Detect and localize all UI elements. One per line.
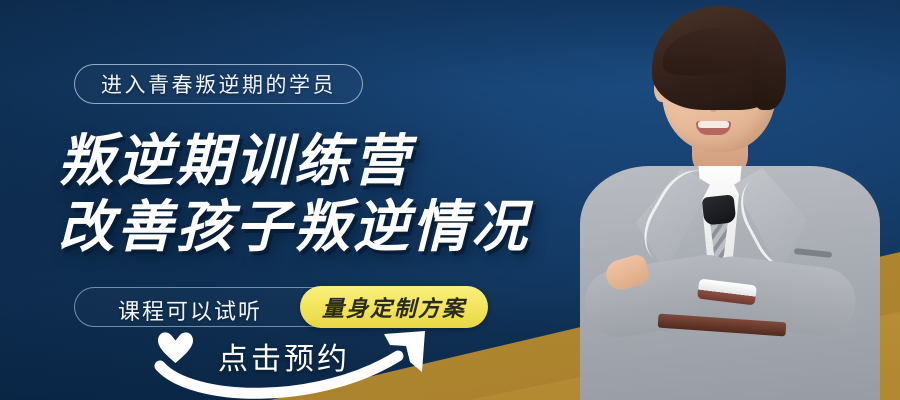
- banner-content: 进入青春叛逆期的学员 叛逆期训练营 改善孩子叛逆情况 课程可以试听 量身定制方案…: [0, 0, 600, 400]
- feature-highlight-pill[interactable]: 量身定制方案: [300, 286, 488, 328]
- subject-teeth: [698, 121, 729, 128]
- headline-line-2: 改善孩子叛逆情况: [58, 194, 530, 260]
- top-badge: 进入青春叛逆期的学员: [74, 64, 363, 104]
- student-photo: [566, 0, 900, 400]
- headline-block: 叛逆期训练营 改善孩子叛逆情况: [58, 128, 530, 260]
- headline-line-1: 叛逆期训练营: [58, 128, 530, 194]
- feature-row: 课程可以试听 量身定制方案: [74, 286, 514, 328]
- cta-row[interactable]: 点击预约: [140, 326, 460, 400]
- subject-mouth: [696, 121, 731, 135]
- feature-outline-label: 课程可以试听: [118, 294, 262, 326]
- heart-icon: [158, 332, 193, 363]
- promo-banner: 进入青春叛逆期的学员 叛逆期训练营 改善孩子叛逆情况 课程可以试听 量身定制方案…: [0, 0, 900, 400]
- cta-label[interactable]: 点击预约: [218, 334, 350, 378]
